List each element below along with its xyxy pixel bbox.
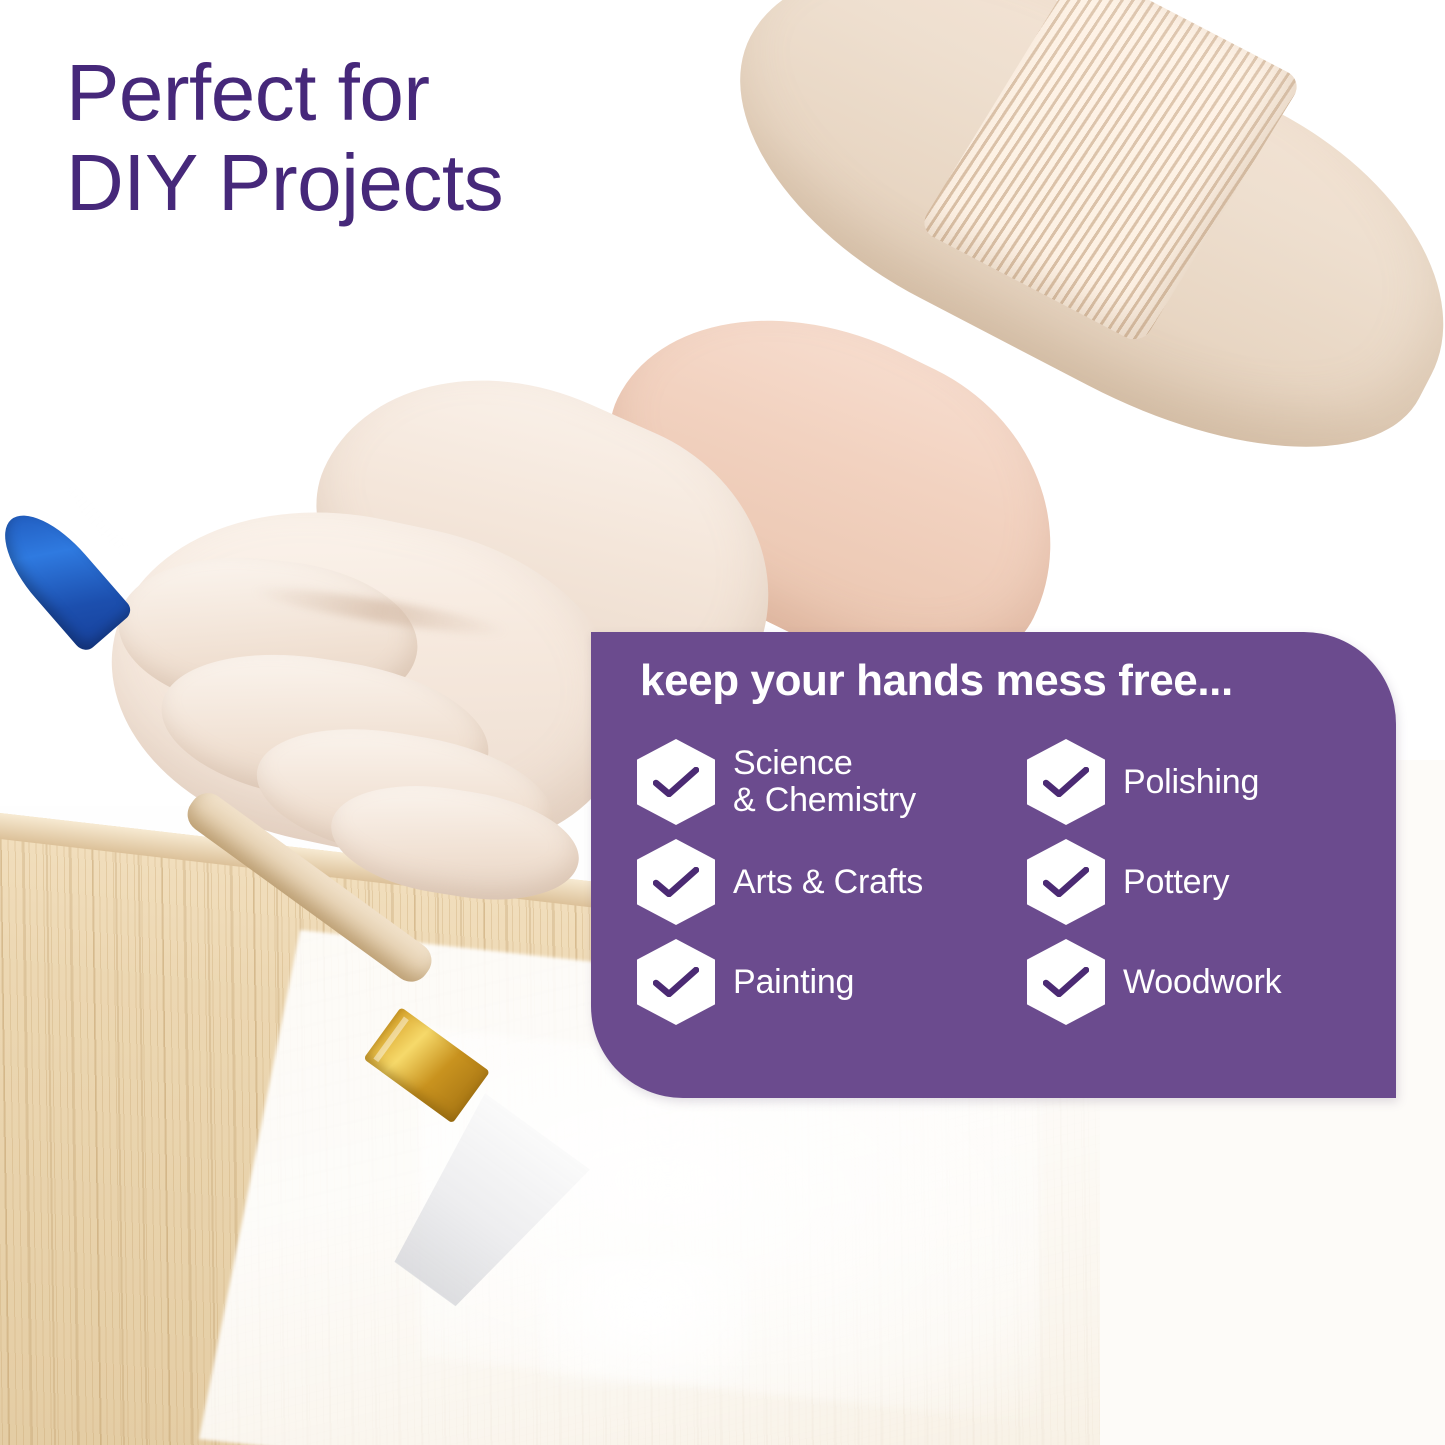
check-mark-icon [653, 767, 699, 797]
check-mark-icon [1043, 767, 1089, 797]
feature-label: Pottery [1123, 864, 1229, 901]
feature-label: Science & Chemistry [733, 745, 916, 818]
headline-line-2: DIY Projects [66, 138, 686, 228]
feature-label: Painting [733, 964, 854, 1001]
check-hexagon-icon [637, 839, 715, 925]
feature-item: Science & Chemistry [637, 732, 1027, 832]
check-mark-icon [1043, 967, 1089, 997]
check-hexagon-icon [637, 939, 715, 1025]
check-hexagon-icon [1027, 839, 1105, 925]
check-hexagon-icon [1027, 939, 1105, 1025]
feature-item: Polishing [1027, 732, 1357, 832]
feature-item: Arts & Crafts [637, 832, 1027, 932]
feature-item: Woodwork [1027, 932, 1357, 1032]
check-hexagon-icon [1027, 739, 1105, 825]
feature-label: Woodwork [1123, 964, 1281, 1001]
feature-label: Polishing [1123, 764, 1259, 801]
poster-canvas: Perfect for DIY Projects keep your hands… [0, 0, 1445, 1445]
feature-label: Arts & Crafts [733, 864, 923, 901]
features-panel: keep your hands mess free... Science & C… [591, 632, 1396, 1098]
features-grid: Science & Chemistry Polishing Arts & Cra… [637, 732, 1357, 1032]
brush-wet-highlight [540, 1255, 750, 1385]
check-mark-icon [653, 967, 699, 997]
feature-item: Pottery [1027, 832, 1357, 932]
check-hexagon-icon [637, 739, 715, 825]
feature-item: Painting [637, 932, 1027, 1032]
check-mark-icon [653, 867, 699, 897]
headline: Perfect for DIY Projects [66, 48, 686, 227]
panel-title: keep your hands mess free... [640, 656, 1233, 706]
check-mark-icon [1043, 867, 1089, 897]
headline-line-1: Perfect for [66, 48, 686, 138]
